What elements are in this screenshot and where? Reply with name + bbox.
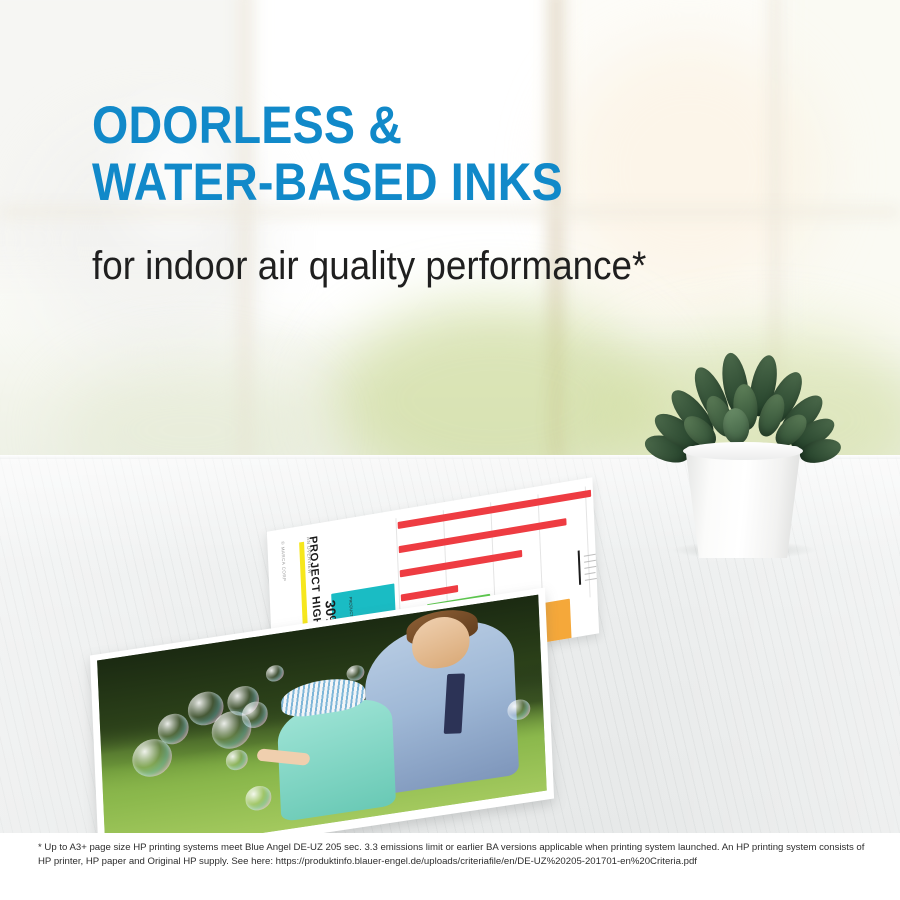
photo-adult-tie	[444, 674, 465, 734]
pot-rim	[683, 442, 803, 460]
headline-block: ODORLESS & WATER-BASED INKS	[92, 98, 852, 211]
footnote-bar: * Up to A3+ page size HP printing system…	[0, 833, 900, 900]
document-text-line	[584, 553, 598, 556]
subheadline: for indoor air quality performance*	[92, 244, 819, 288]
marketing-banner: ODORLESS & WATER-BASED INKS for indoor a…	[0, 0, 900, 900]
document-text-line	[584, 560, 596, 563]
footnote-text: * Up to A3+ page size HP printing system…	[38, 841, 878, 868]
white-ceramic-pot	[685, 446, 801, 558]
background-foliage-blur	[60, 360, 320, 458]
headline-line-2: WATER-BASED INKS	[92, 155, 761, 212]
potted-succulent-plant	[663, 336, 823, 558]
chart-bar	[401, 585, 459, 602]
document-rule	[578, 550, 581, 585]
headline-line-1: ODORLESS &	[92, 98, 761, 155]
document-text-line	[585, 572, 596, 575]
chart-bar	[400, 550, 523, 578]
document-text-line	[585, 578, 599, 581]
